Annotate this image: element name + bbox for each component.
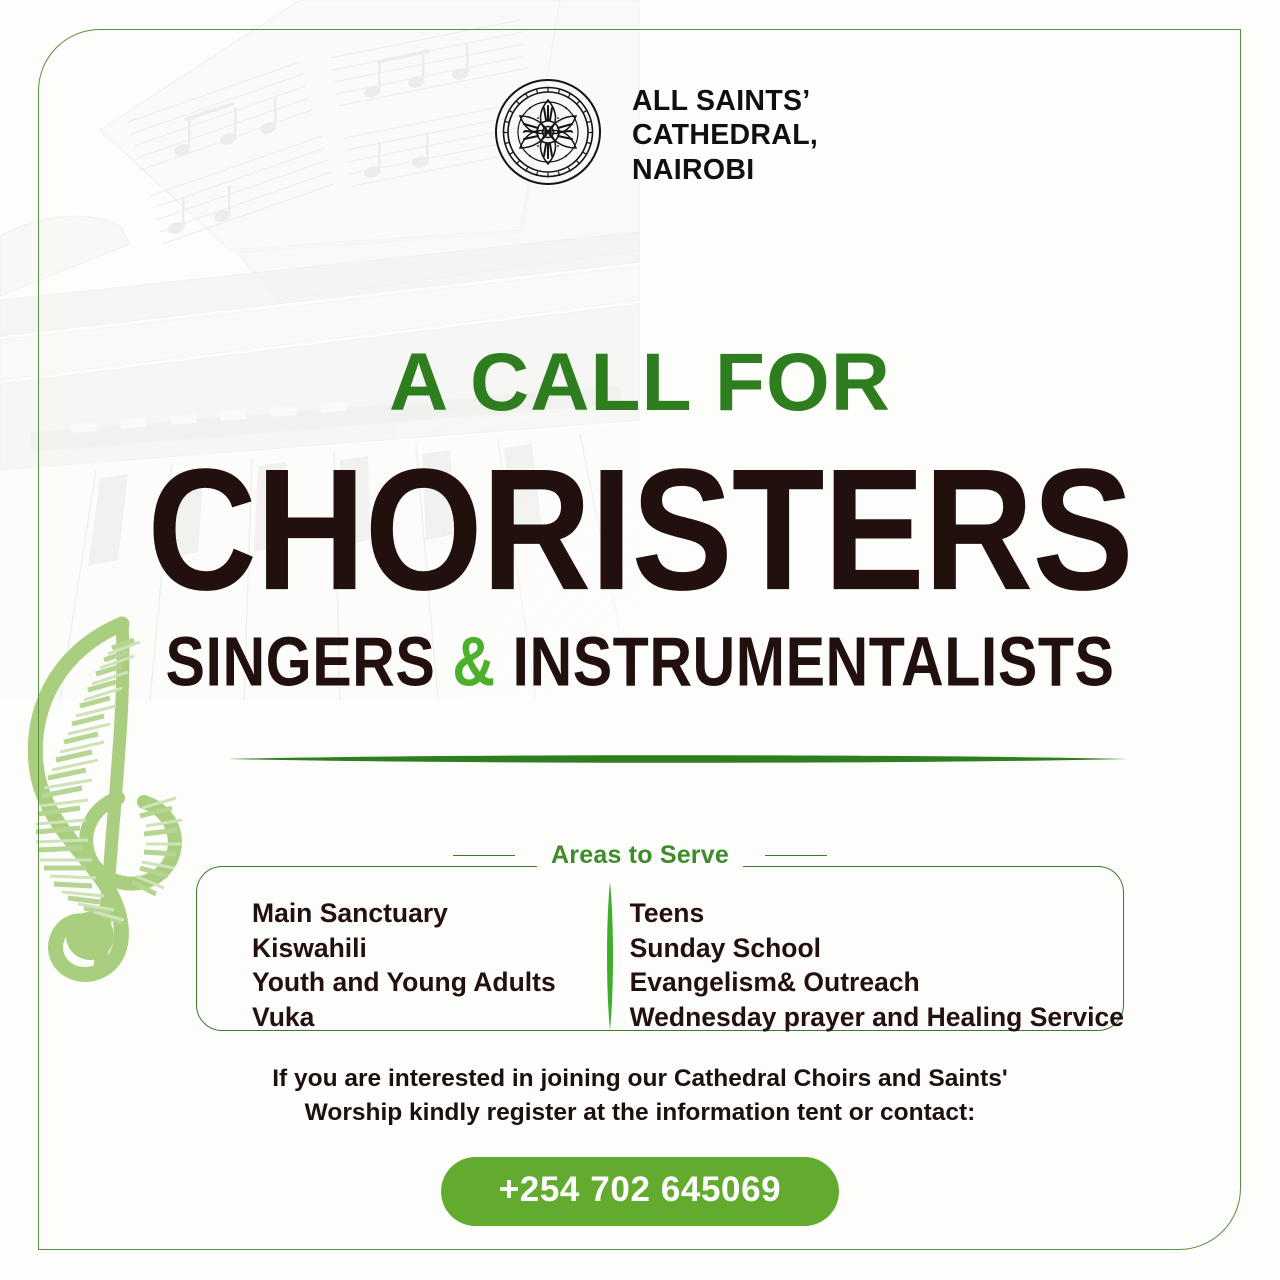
- headline-sub-right: INSTRUMENTALISTS: [513, 623, 1115, 701]
- headline-sub-left: SINGERS: [166, 623, 436, 701]
- list-item: Vuka: [252, 1000, 588, 1035]
- headline-kicker: A CALL FOR: [0, 336, 1280, 430]
- footer-instructions: If you are interested in joining our Cat…: [0, 1062, 1280, 1130]
- areas-to-serve-columns: Main Sanctuary Kiswahili Youth and Young…: [196, 880, 1124, 1030]
- headline-ampersand: &: [452, 623, 495, 701]
- legend-rule-left: [453, 855, 515, 857]
- list-item: Evangelism& Outreach: [630, 965, 1124, 1000]
- list-item: Teens: [630, 896, 1124, 931]
- section-divider: [228, 752, 1128, 766]
- headline-main: CHORISTERS: [0, 444, 1280, 617]
- headline-sub: SINGERS & INSTRUMENTALISTS: [0, 628, 1280, 698]
- phone-button-wrap: +254 702 645069: [0, 1157, 1280, 1226]
- rose-window-mandala-icon: [494, 78, 602, 186]
- footer-line-1: If you are interested in joining our Cat…: [0, 1062, 1280, 1096]
- list-item: Kiswahili: [252, 931, 588, 966]
- list-item: Main Sanctuary: [252, 896, 588, 931]
- list-item: Sunday School: [630, 931, 1124, 966]
- poster-canvas: ALL SAINTS’ CATHEDRAL, NAIROBI A CALL FO…: [0, 0, 1280, 1280]
- areas-right-column: Teens Sunday School Evangelism& Outreach…: [588, 880, 1124, 1030]
- cathedral-logo: ALL SAINTS’ CATHEDRAL, NAIROBI: [494, 78, 818, 187]
- org-line-1: ALL SAINTS’: [632, 84, 818, 118]
- org-line-2: CATHEDRAL,: [632, 118, 818, 152]
- cathedral-logo-text: ALL SAINTS’ CATHEDRAL, NAIROBI: [632, 78, 818, 187]
- org-line-3: NAIROBI: [632, 153, 818, 187]
- list-item: Wednesday prayer and Healing Service: [630, 1000, 1124, 1035]
- legend-rule-right: [765, 855, 827, 857]
- footer-line-2: Worship kindly register at the informati…: [0, 1096, 1280, 1130]
- areas-left-column: Main Sanctuary Kiswahili Youth and Young…: [196, 880, 588, 1030]
- contact-phone-button[interactable]: +254 702 645069: [441, 1157, 839, 1226]
- list-item: Youth and Young Adults: [252, 965, 588, 1000]
